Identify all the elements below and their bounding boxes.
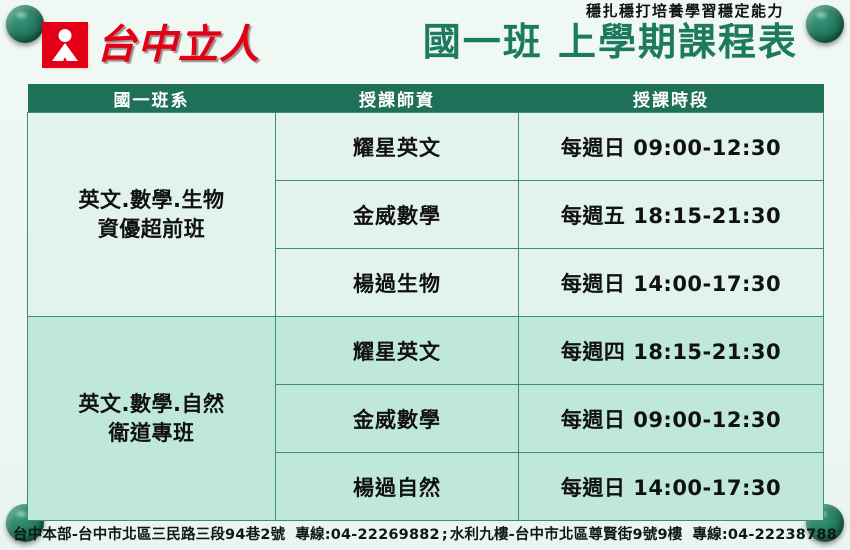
class-name-line1: 英文.數學.生物 [79,188,225,212]
page-title: 國一班 上學期課程表 [423,21,798,64]
standing-person-icon [42,22,88,68]
branch2-address: 水利九樓-台中市北區尊賢街9號9樓 [450,527,683,543]
poster-header: 台中立人 穩扎穩打培養學習穩定能力 國一班 上學期課程表 [0,0,850,84]
person-head-shape [59,29,72,42]
branch1-address: 台中本部-台中市北區三民路三段94巷2號 [13,527,285,543]
footer-separator: ; [440,527,450,543]
teacher-cell: 耀星英文 [276,113,519,181]
column-header-teacher: 授課師資 [276,84,519,113]
time-cell: 每週五 18:15-21:30 [519,181,824,249]
teacher-cell: 金威數學 [276,181,519,249]
course-schedule-poster: 台中立人 穩扎穩打培養學習穩定能力 國一班 上學期課程表 國一班系 授課師資 授… [0,0,850,550]
person-leg-gap-shape [60,57,70,68]
column-header-class: 國一班系 [28,84,276,113]
time-cell: 每週日 09:00-12:30 [519,385,824,453]
time-cell: 每週日 14:00-17:30 [519,453,824,521]
class-name-line2: 資優超前班 [98,217,206,241]
teacher-cell: 楊過自然 [276,453,519,521]
column-header-time: 授課時段 [519,84,824,113]
footer-contact-bar: 台中本部-台中市北區三民路三段94巷2號專線:04-22269882;水利九樓-… [0,523,850,544]
table-row: 英文.數學.生物 資優超前班 耀星英文 每週日 09:00-12:30 [28,113,824,181]
class-name-line1: 英文.數學.自然 [79,392,225,416]
teacher-cell: 耀星英文 [276,317,519,385]
time-cell: 每週日 14:00-17:30 [519,249,824,317]
class-name-line2: 衛道專班 [109,421,195,445]
brand-logo: 台中立人 [42,22,260,68]
teacher-cell: 金威數學 [276,385,519,453]
brand-name: 台中立人 [96,25,260,65]
schedule-table-wrapper: 國一班系 授課師資 授課時段 英文.數學.生物 資優超前班 耀星英文 每週日 0… [27,84,823,521]
class-name-cell-group-b: 英文.數學.自然 衛道專班 [28,317,276,521]
branch2-phone: 專線:04-22238788 [692,527,837,543]
branch1-phone: 專線:04-22269882 [295,527,440,543]
time-cell: 每週日 09:00-12:30 [519,113,824,181]
time-cell: 每週四 18:15-21:30 [519,317,824,385]
table-row: 英文.數學.自然 衛道專班 耀星英文 每週四 18:15-21:30 [28,317,824,385]
teacher-cell: 楊過生物 [276,249,519,317]
schedule-table: 國一班系 授課師資 授課時段 英文.數學.生物 資優超前班 耀星英文 每週日 0… [27,84,824,521]
class-name-cell-group-a: 英文.數學.生物 資優超前班 [28,113,276,317]
table-header-row: 國一班系 授課師資 授課時段 [28,84,824,113]
title-block: 穩扎穩打培養學習穩定能力 國一班 上學期課程表 [423,2,798,64]
poster-subtitle: 穩扎穩打培養學習穩定能力 [423,2,798,20]
